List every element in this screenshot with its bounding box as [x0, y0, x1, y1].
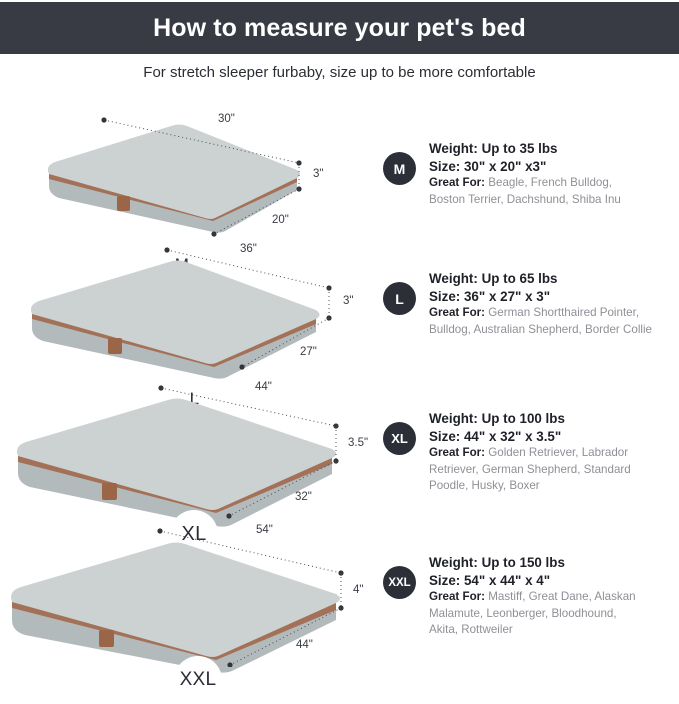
spec-weight-m: Weight: Up to 35 lbs — [429, 140, 679, 158]
spec-weight-label: Weight: — [429, 411, 478, 426]
spec-badge-l: L — [383, 282, 416, 315]
spec-badge-label: L — [395, 291, 404, 307]
spec-weight-value: Up to 100 lbs — [478, 411, 565, 426]
spec-weight-value: Up to 65 lbs — [478, 271, 558, 286]
spec-great-for-xxl: Great For: Mastiff, Great Dane, Alaskan … — [429, 589, 679, 639]
spec-size-label: Size: — [429, 429, 460, 444]
dimension-lines-xxl — [0, 520, 380, 667]
bed-illustration-l: L 36" 3" 27" — [0, 240, 380, 380]
spec-weight-value: Up to 150 lbs — [478, 555, 565, 570]
dim-height-m: 3" — [313, 168, 323, 180]
spec-weight-label: Weight: — [429, 555, 478, 570]
size-row-xl: XL 44" 3.5" 32" XL Weight: Up to 100 lbs — [0, 378, 679, 523]
spec-great-line: Malamute, Leonberger, Bloodhound, — [429, 606, 679, 623]
spec-weight-value: Up to 35 lbs — [478, 141, 558, 156]
spec-weight-label: Weight: — [429, 141, 478, 156]
dim-length-l: 36" — [240, 243, 257, 255]
spec-great-for-l: Great For: German Shortthaired Pointer, … — [429, 305, 679, 338]
spec-size-label: Size: — [429, 289, 460, 304]
spec-great-label: Great For: — [429, 590, 485, 603]
spec-size-xl: Size: 44" x 32" x 3.5" — [429, 428, 679, 446]
spec-block-xxl: XXL Weight: Up to 150 lbs Size: 54" x 44… — [383, 554, 679, 639]
dimension-lines-xl — [0, 378, 380, 523]
spec-size-m: Size: 30" x 20" x3" — [429, 158, 679, 176]
spec-great-line: Great For: German Shortthaired Pointer, — [429, 305, 679, 322]
spec-badge-m: M — [383, 152, 416, 185]
spec-badge-label: XL — [391, 431, 408, 446]
spec-size-l: Size: 36" x 27" x 3" — [429, 288, 679, 306]
dim-length-m: 30" — [218, 113, 235, 125]
spec-great-line: Retriever, German Shepherd, Standard — [429, 462, 679, 479]
spec-size-value: 30" x 20" x3" — [460, 159, 546, 174]
spec-great-for-m: Great For: Beagle, French Bulldog, Bosto… — [429, 175, 679, 208]
spec-size-label: Size: — [429, 159, 460, 174]
spec-size-xxl: Size: 54" x 44" x 4" — [429, 572, 679, 590]
spec-great-text: Beagle, French Bulldog, — [485, 176, 612, 189]
spec-great-line: Great For: Mastiff, Great Dane, Alaskan — [429, 589, 679, 606]
bed-illustration-m: M 30" 3" 20" — [0, 104, 380, 239]
spec-great-text: Mastiff, Great Dane, Alaskan — [485, 590, 636, 603]
dim-height-xxl: 4" — [353, 584, 363, 596]
spec-great-line: Poodle, Husky, Boxer — [429, 478, 679, 495]
spec-size-value: 44" x 32" x 3.5" — [460, 429, 561, 444]
header-bar: How to measure your pet's bed — [0, 2, 679, 54]
spec-great-line: Akita, Rottweiler — [429, 622, 679, 639]
bed-illustration-xl: XL 44" 3.5" 32" — [0, 378, 380, 523]
spec-weight-xl: Weight: Up to 100 lbs — [429, 410, 679, 428]
spec-badge-label: XXL — [388, 577, 410, 589]
dim-height-xl: 3.5" — [348, 437, 368, 449]
spec-great-line: Boston Terrier, Dachshund, Shiba Inu — [429, 192, 679, 209]
dim-height-l: 3" — [343, 295, 353, 307]
spec-size-value: 54" x 44" x 4" — [460, 573, 550, 588]
bed-size-badge-label: XXL — [180, 669, 217, 691]
size-row-l: L 36" 3" 27" L Weight: Up to 65 lbs — [0, 240, 679, 380]
spec-weight-xxl: Weight: Up to 150 lbs — [429, 554, 679, 572]
spec-great-label: Great For: — [429, 446, 485, 459]
size-row-xxl: XXL 54" 4" 44" XXL Weight: Up to 150 lbs — [0, 520, 679, 667]
spec-great-text: German Shortthaired Pointer, — [485, 306, 639, 319]
dimension-lines-l — [0, 240, 380, 380]
dim-width-xxl: 44" — [296, 639, 313, 651]
spec-great-for-xl: Great For: Golden Retriever, Labrador Re… — [429, 445, 679, 495]
spec-size-value: 36" x 27" x 3" — [460, 289, 550, 304]
spec-size-label: Size: — [429, 573, 460, 588]
spec-weight-label: Weight: — [429, 271, 478, 286]
spec-block-xl: XL Weight: Up to 100 lbs Size: 44" x 32"… — [383, 410, 679, 495]
size-row-m: M 30" 3" 20" M Weight: Up to 35 lbs — [0, 104, 679, 239]
subtitle: For stretch sleeper furbaby, size up to … — [0, 64, 679, 81]
spec-block-m: M Weight: Up to 35 lbs Size: 30" x 20" x… — [383, 140, 679, 208]
dim-length-xl: 44" — [255, 381, 272, 393]
spec-great-label: Great For: — [429, 306, 485, 319]
dim-length-xxl: 54" — [256, 524, 273, 536]
spec-block-l: L Weight: Up to 65 lbs Size: 36" x 27" x… — [383, 270, 679, 338]
spec-great-label: Great For: — [429, 176, 485, 189]
spec-great-line: Great For: Beagle, French Bulldog, — [429, 175, 679, 192]
spec-badge-label: M — [394, 161, 406, 177]
dim-width-xl: 32" — [295, 491, 312, 503]
page-title: How to measure your pet's bed — [153, 14, 526, 43]
spec-badge-xl: XL — [383, 422, 416, 455]
dim-width-m: 20" — [272, 214, 289, 226]
spec-great-line: Great For: Golden Retriever, Labrador — [429, 445, 679, 462]
spec-great-line: Bulldog, Australian Shepherd, Border Col… — [429, 322, 679, 339]
bed-illustration-xxl: XXL 54" 4" 44" — [0, 520, 380, 667]
spec-weight-l: Weight: Up to 65 lbs — [429, 270, 679, 288]
spec-badge-xxl: XXL — [383, 566, 416, 599]
dim-width-l: 27" — [300, 346, 317, 358]
spec-great-text: Golden Retriever, Labrador — [485, 446, 628, 459]
